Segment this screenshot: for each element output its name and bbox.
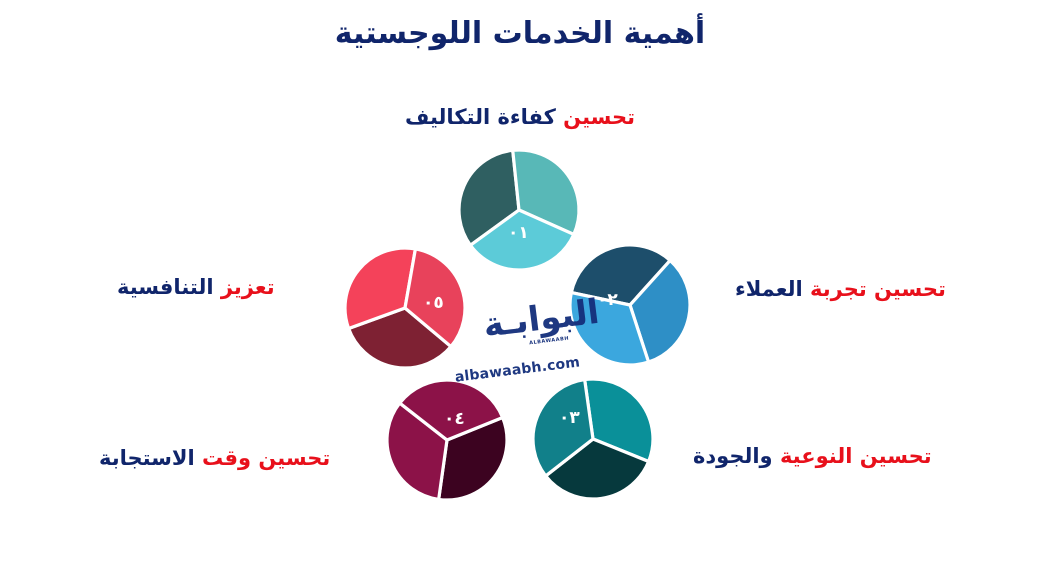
label-2-highlight: تحسين تجربة bbox=[810, 277, 946, 301]
label-5-highlight: تعزيز bbox=[221, 275, 275, 299]
pie-chart-2-svg bbox=[565, 240, 695, 370]
label-5-rest: التنافسية bbox=[117, 275, 214, 299]
label-2-rest: العملاء bbox=[735, 277, 803, 301]
pie-chart-2[interactable] bbox=[565, 240, 695, 370]
label-1-highlight: تحسين bbox=[563, 105, 635, 129]
label-3-rest: والجودة bbox=[693, 444, 773, 468]
label-4-rest: الاستجابة bbox=[99, 446, 195, 470]
label-cost-efficiency: تحسين كفاءة التكاليف bbox=[0, 104, 1040, 130]
label-competitiveness: تعزيز التنافسية bbox=[117, 274, 275, 300]
label-customer-experience: تحسين تجربة العملاء bbox=[735, 276, 946, 302]
label-quality-improvement: تحسين النوعية والجودة bbox=[693, 443, 932, 469]
pie-chart-5-svg bbox=[340, 243, 470, 373]
pie-chart-4[interactable] bbox=[382, 375, 512, 505]
infographic-canvas: أهمية الخدمات اللوجستية ٠١ bbox=[0, 0, 1040, 572]
pie-chart-4-svg bbox=[382, 375, 512, 505]
label-1-rest: كفاءة التكاليف bbox=[405, 105, 556, 129]
label-4-highlight: تحسين وقت bbox=[202, 446, 330, 470]
pie-chart-5[interactable] bbox=[340, 243, 470, 373]
label-3-highlight: تحسين النوعية bbox=[780, 444, 932, 468]
pie-chart-3[interactable] bbox=[528, 374, 658, 504]
label-response-time: تحسين وقت الاستجابة bbox=[99, 445, 330, 471]
pie-chart-3-svg bbox=[528, 374, 658, 504]
